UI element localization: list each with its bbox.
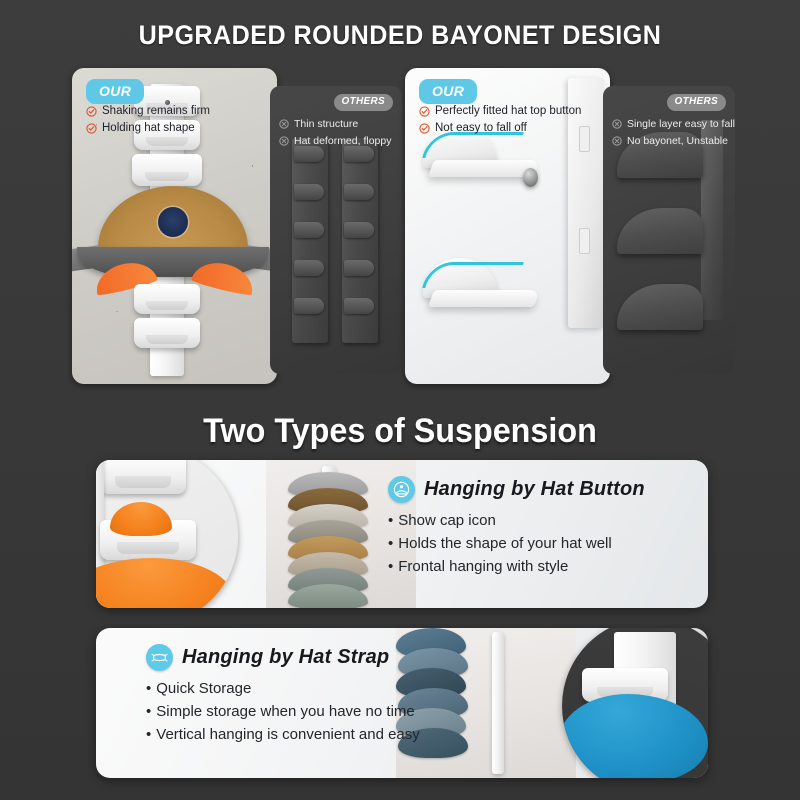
khaki-cap <box>98 186 248 264</box>
card-bullet-label: Show cap icon <box>398 512 496 529</box>
con-item: Thin structure <box>279 118 391 131</box>
photo-closeup-hat-strap <box>562 628 708 778</box>
con-item: Hat deformed, floppy <box>279 135 391 148</box>
our-pros-list-2: Perfectly fitted hat top button Not easy… <box>419 105 581 139</box>
rack-node <box>134 284 200 314</box>
card-bullet-label: Simple storage when you have no time <box>156 703 414 720</box>
card-bullet: •Holds the shape of your hat well <box>388 535 645 552</box>
card-bullet: •Vertical hanging is convenient and easy <box>146 726 420 743</box>
bayonet-shelf <box>428 290 540 307</box>
hat-button-glyph <box>393 481 410 498</box>
card-bullet-label: Holds the shape of your hat well <box>398 535 611 552</box>
others-badge: OTHERS <box>667 94 726 111</box>
suspension-card-hat-strap: Hanging by Hat Strap •Quick Storage •Sim… <box>96 628 708 778</box>
con-label: No bayonet, Unstable <box>627 135 728 148</box>
pro-item: Holding hat shape <box>86 122 210 135</box>
check-circle-icon <box>419 123 430 134</box>
infographic-page: UPGRADED ROUNDED BAYONET DESIGN <box>0 0 800 800</box>
mount-slot <box>579 228 590 254</box>
others-badge: OTHERS <box>334 94 393 111</box>
check-circle-icon <box>86 106 97 117</box>
con-item: Single layer easy to fall <box>612 118 735 131</box>
pro-label: Not easy to fall off <box>435 122 527 135</box>
card-bullet: •Simple storage when you have no time <box>146 703 420 720</box>
card-text-hat-button: Hanging by Hat Button •Show cap icon •Ho… <box>388 476 645 581</box>
others-cons-list-1: Thin structure Hat deformed, floppy <box>279 118 391 152</box>
section-title: Two Types of Suspension <box>20 412 780 451</box>
cap-logo <box>158 207 188 237</box>
con-label: Single layer easy to fall <box>627 118 735 131</box>
con-label: Thin structure <box>294 118 358 131</box>
others-panel-1: OTHERS Thin structure Hat deformed, flop… <box>270 86 402 374</box>
cross-circle-icon <box>279 119 289 129</box>
our-badge: OUR <box>86 79 144 104</box>
pro-item: Perfectly fitted hat top button <box>419 105 581 118</box>
our-pros-list-1: Shaking remains firm Holding hat shape <box>86 105 210 139</box>
our-badge: OUR <box>419 79 477 104</box>
others-cons-list-2: Single layer easy to fall No bayonet, Un… <box>612 118 735 152</box>
hat-strap-glyph <box>151 649 168 666</box>
cross-circle-icon <box>612 119 622 129</box>
pro-label: Holding hat shape <box>102 122 195 135</box>
pro-item: Shaking remains firm <box>86 105 210 118</box>
hat-button-icon <box>388 476 415 503</box>
hat-strap-icon <box>146 644 173 671</box>
photo-closeup-hat-button <box>96 460 238 608</box>
con-item: No bayonet, Unstable <box>612 135 735 148</box>
suspension-card-hat-button: Hanging by Hat Button •Show cap icon •Ho… <box>96 460 708 608</box>
pro-label: Shaking remains firm <box>102 105 210 118</box>
photo-caps-by-strap <box>396 628 576 778</box>
hook-strip <box>342 138 378 343</box>
card-bullet: •Show cap icon <box>388 512 645 529</box>
comparison-block-1: OUR Shaking remains firm Holding hat sha… <box>72 68 402 384</box>
card-title: Hanging by Hat Button <box>424 478 645 501</box>
our-panel-1: OUR Shaking remains firm Holding hat sha… <box>72 68 277 384</box>
our-panel-2: OUR Perfectly fitted hat top button Not … <box>405 68 610 384</box>
pro-item: Not easy to fall off <box>419 122 581 135</box>
check-circle-icon <box>86 123 97 134</box>
card-text-hat-strap: Hanging by Hat Strap •Quick Storage •Sim… <box>146 644 420 749</box>
page-title: UPGRADED ROUNDED BAYONET DESIGN <box>28 20 772 51</box>
card-title: Hanging by Hat Strap <box>182 646 389 669</box>
check-circle-icon <box>419 106 430 117</box>
card-bullet-label: Vertical hanging is convenient and easy <box>156 726 420 743</box>
curved-shelf <box>617 284 703 330</box>
others-panel-2: OTHERS Single layer easy to fall No bayo… <box>603 86 735 374</box>
cross-circle-icon <box>612 136 622 146</box>
rack-node <box>134 318 200 348</box>
cyan-highlight-line <box>422 262 524 288</box>
cross-circle-icon <box>279 136 289 146</box>
curved-shelf <box>617 208 703 254</box>
bayonet-unit <box>423 250 541 334</box>
comparison-block-2: OUR Perfectly fitted hat top button Not … <box>405 68 735 384</box>
card-bullet-label: Quick Storage <box>156 680 251 697</box>
card-heading: Hanging by Hat Strap <box>146 644 420 671</box>
pro-label: Perfectly fitted hat top button <box>435 105 581 118</box>
card-heading: Hanging by Hat Button <box>388 476 645 503</box>
card-bullet: •Quick Storage <box>146 680 420 697</box>
hat-button-knob <box>523 168 538 187</box>
hook-strip <box>292 138 328 343</box>
rack-node <box>132 154 202 186</box>
con-label: Hat deformed, floppy <box>294 135 391 148</box>
card-bullet: •Frontal hanging with style <box>388 558 645 575</box>
card-bullet-label: Frontal hanging with style <box>398 558 568 575</box>
